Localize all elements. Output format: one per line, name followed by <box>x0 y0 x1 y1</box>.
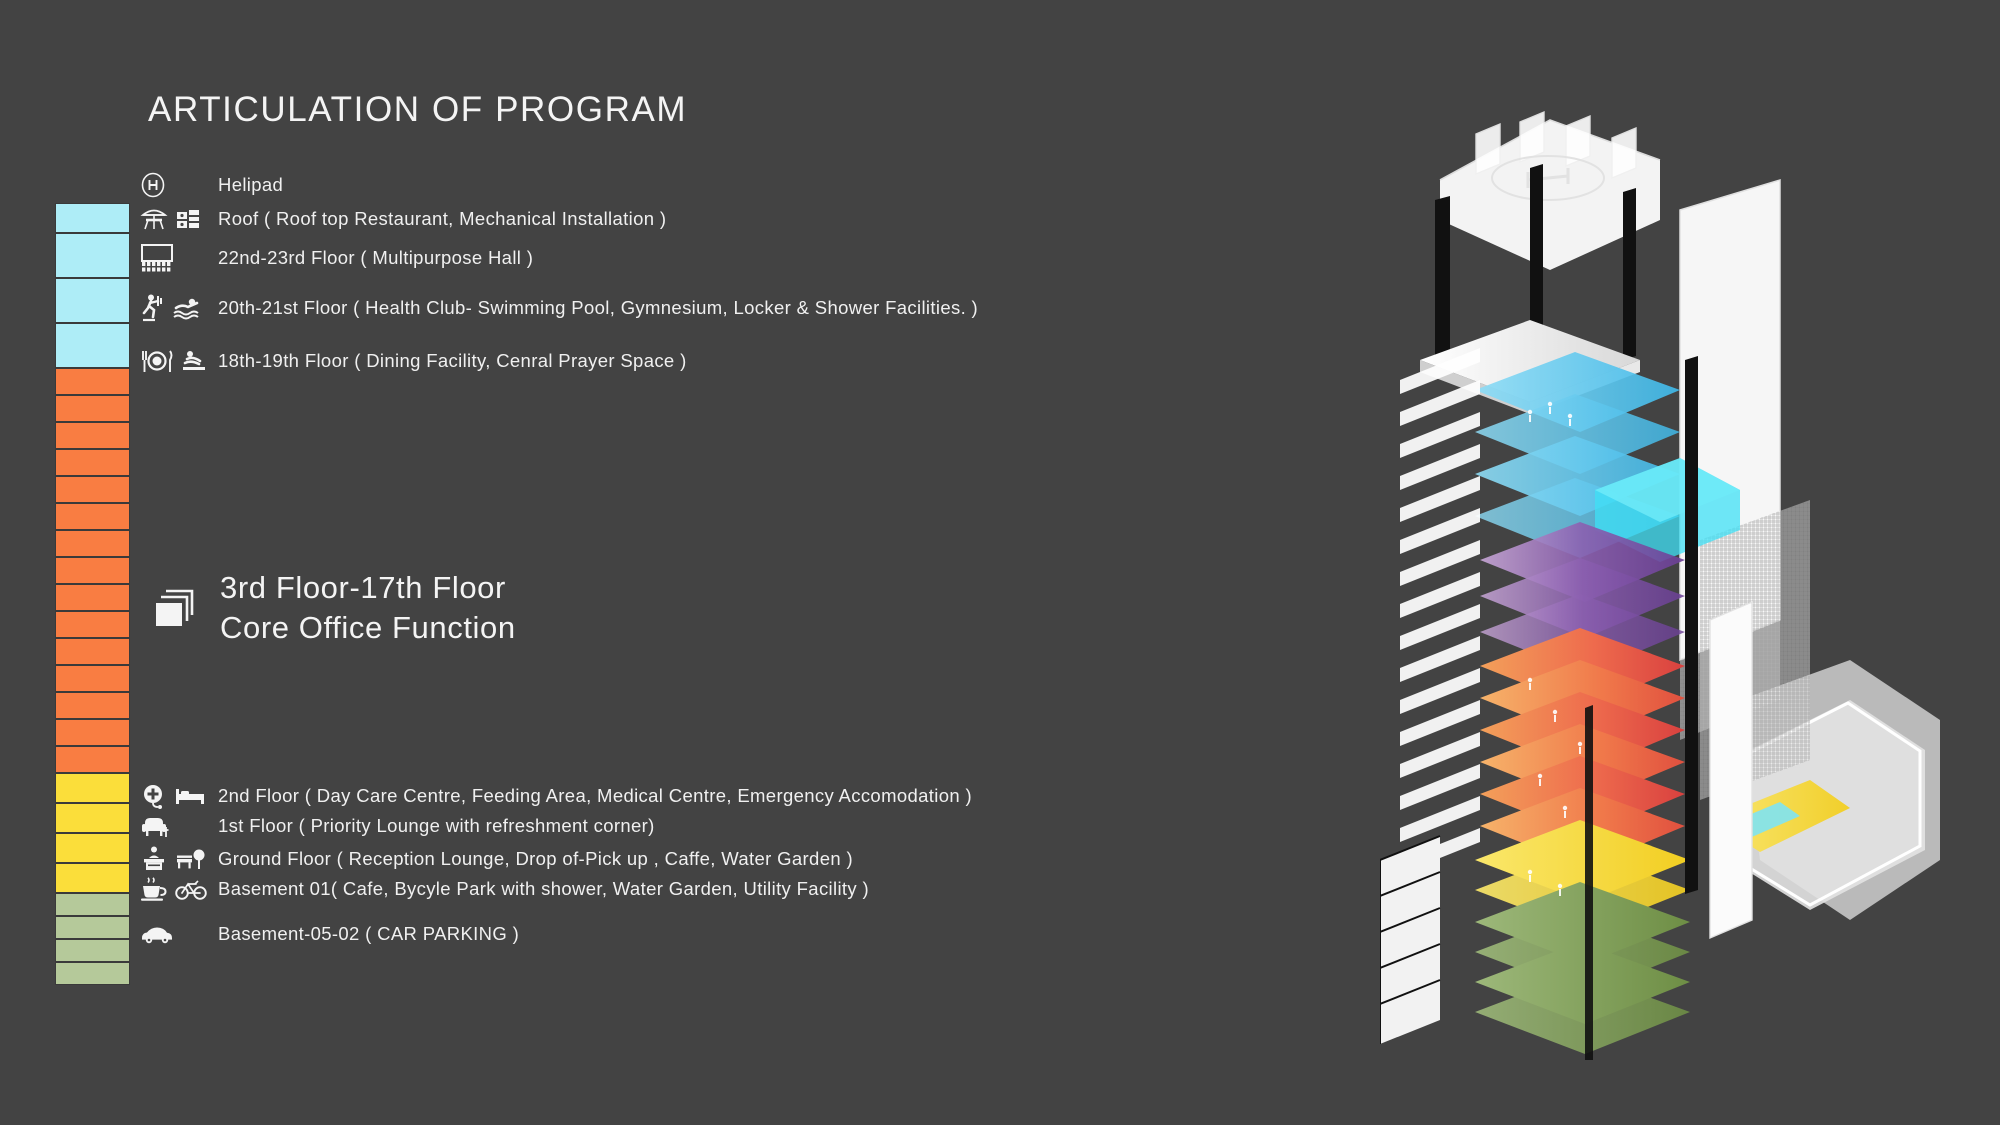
armchair-icon <box>140 813 170 839</box>
auditorium-seating-icon <box>140 243 174 273</box>
legend-label-helipad: Helipad <box>218 174 283 196</box>
legend-icon-group <box>140 782 218 810</box>
legend-icon-group <box>140 293 218 323</box>
medical-cross-icon <box>140 782 168 810</box>
helipad-icon <box>140 172 166 198</box>
bicycle-icon <box>175 877 207 901</box>
umbrella-table-icon <box>140 205 168 233</box>
gym-runner-icon <box>140 293 166 323</box>
dining-cutlery-icon <box>140 348 174 374</box>
legend-icon-group <box>140 348 218 374</box>
legend-label-floor-22-23: 22nd-23rd Floor ( Multipurpose Hall ) <box>218 247 533 269</box>
legend-row-ground-floor: Ground Floor ( Reception Lounge, Drop of… <box>140 845 853 873</box>
legend-label-floor-20-21: 20th-21st Floor ( Health Club- Swimming … <box>218 297 978 319</box>
legend-icon-group <box>140 243 218 273</box>
legend-label-basement-05-02: Basement-05-02 ( CAR PARKING ) <box>218 923 519 945</box>
legend-icon-group <box>140 877 218 901</box>
garden-bench-icon <box>175 845 205 873</box>
office-floor-range: 3rd Floor-17th Floor <box>220 570 516 606</box>
isometric-building-section <box>1380 60 1940 1060</box>
prayer-icon <box>181 348 207 374</box>
mechanical-installation-icon <box>175 206 201 232</box>
bed-icon <box>175 785 205 807</box>
legend-label-roof: Roof ( Roof top Restaurant, Mechanical I… <box>218 208 666 230</box>
coffee-cup-icon <box>140 877 168 901</box>
legend-label-floor-2: 2nd Floor ( Day Care Centre, Feeding Are… <box>218 785 972 807</box>
legend: Helipad Roof ( Roof top Restaurant, Mech… <box>0 0 1050 1125</box>
car-icon <box>140 924 174 944</box>
legend-row-floor-18-19: 18th-19th Floor ( Dining Facility, Cenra… <box>140 348 687 374</box>
core-office-callout: 3rd Floor-17th Floor Core Office Functio… <box>152 570 516 646</box>
legend-icon-group <box>140 813 218 839</box>
office-function-label: Core Office Function <box>220 610 516 646</box>
legend-label-ground-floor: Ground Floor ( Reception Lounge, Drop of… <box>218 848 853 870</box>
reception-desk-icon <box>140 845 168 873</box>
legend-icon-group <box>140 845 218 873</box>
legend-row-floor-2: 2nd Floor ( Day Care Centre, Feeding Are… <box>140 782 972 810</box>
swimmer-icon <box>173 296 203 320</box>
legend-row-floor-1: 1st Floor ( Priority Lounge with refresh… <box>140 813 655 839</box>
legend-row-helipad: Helipad <box>140 172 283 198</box>
legend-icon-group <box>140 205 218 233</box>
legend-row-basement-01: Basement 01( Cafe, Bycyle Park with show… <box>140 877 869 901</box>
legend-label-floor-1: 1st Floor ( Priority Lounge with refresh… <box>218 815 655 837</box>
legend-label-basement-01: Basement 01( Cafe, Bycyle Park with show… <box>218 878 869 900</box>
legend-label-floor-18-19: 18th-19th Floor ( Dining Facility, Cenra… <box>218 350 687 372</box>
legend-icon-group <box>140 172 218 198</box>
legend-row-floor-22-23: 22nd-23rd Floor ( Multipurpose Hall ) <box>140 243 533 273</box>
legend-row-roof: Roof ( Roof top Restaurant, Mechanical I… <box>140 205 666 233</box>
legend-icon-group <box>140 924 218 944</box>
legend-row-floor-20-21: 20th-21st Floor ( Health Club- Swimming … <box>140 293 978 323</box>
legend-row-basement-05-02: Basement-05-02 ( CAR PARKING ) <box>140 923 519 945</box>
stacked-floors-icon <box>152 585 198 631</box>
